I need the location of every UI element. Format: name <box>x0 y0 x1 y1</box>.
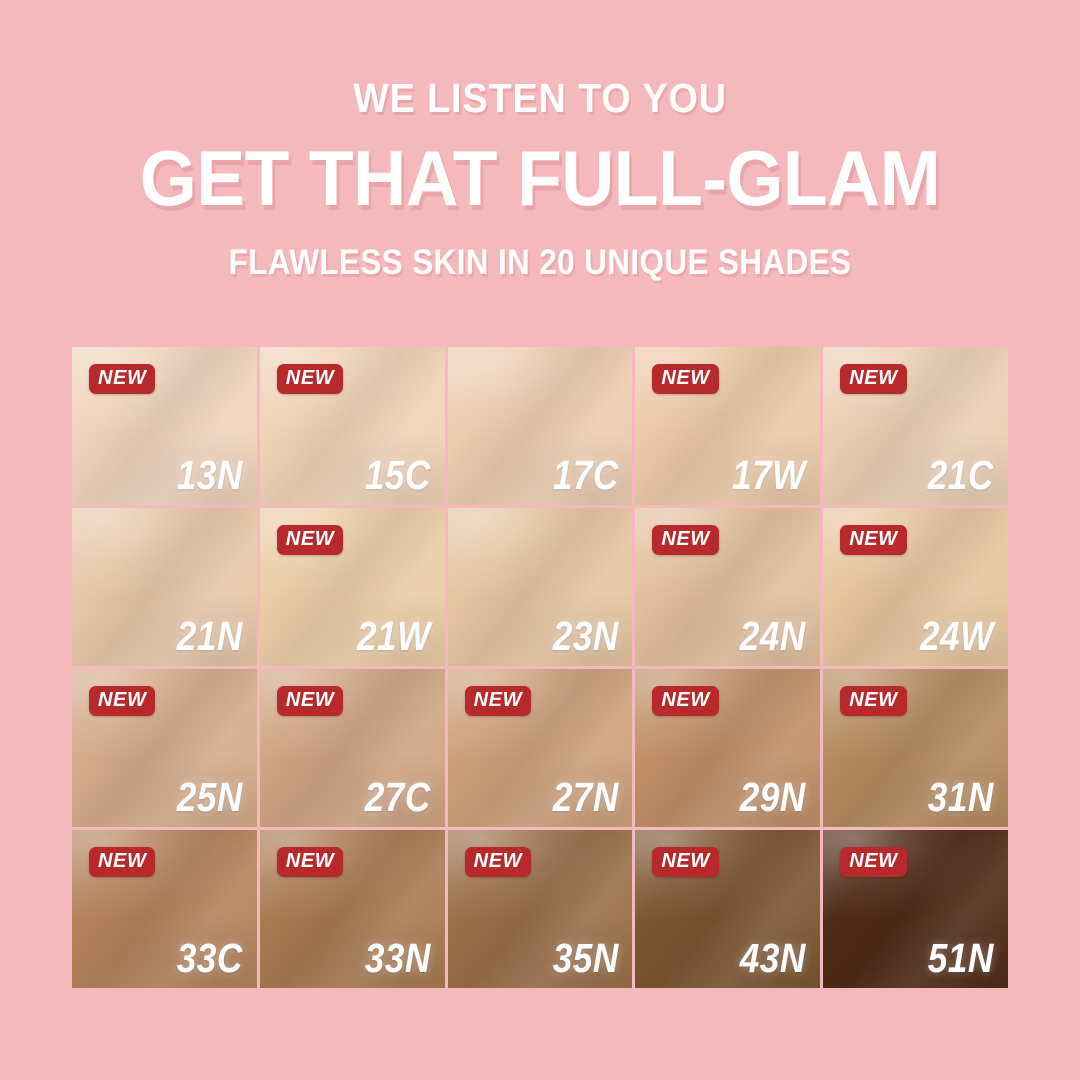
shade-swatch[interactable]: NEW21C <box>823 347 1008 505</box>
new-badge: NEW <box>652 686 718 716</box>
shade-code-label: 25N <box>177 777 243 818</box>
shade-swatch[interactable]: NEW25N <box>72 669 257 827</box>
shade-code-label: 43N <box>740 938 806 979</box>
shade-swatch[interactable]: NEW17W <box>635 347 820 505</box>
shade-swatch[interactable]: NEW27C <box>260 669 445 827</box>
new-badge: NEW <box>277 364 343 394</box>
shade-code-label: 27C <box>365 777 431 818</box>
shade-swatch[interactable]: NEW43N <box>635 830 820 988</box>
new-badge: NEW <box>277 525 343 555</box>
shade-swatch[interactable]: NEW35N <box>448 830 633 988</box>
shade-code-label: 17W <box>732 455 806 496</box>
shade-swatch[interactable]: NEW24N <box>635 508 820 666</box>
new-badge: NEW <box>840 525 906 555</box>
shade-swatch[interactable]: NEW51N <box>823 830 1008 988</box>
shade-code-label: 17C <box>552 455 618 496</box>
new-badge: NEW <box>840 686 906 716</box>
new-badge: NEW <box>465 686 531 716</box>
shade-code-label: 29N <box>740 777 806 818</box>
shade-swatch[interactable]: NEW23N <box>448 508 633 666</box>
page-title: GET THAT FULL-GLAM <box>32 139 1047 217</box>
shade-code-label: 51N <box>928 938 994 979</box>
shade-code-label: 13N <box>177 455 243 496</box>
subtitle-text: FLAWLESS SKIN IN 20 UNIQUE SHADES <box>54 245 1026 280</box>
shade-code-label: 24N <box>740 616 806 657</box>
new-badge: NEW <box>840 364 906 394</box>
shade-code-label: 24W <box>920 616 994 657</box>
shade-swatch[interactable]: NEW21W <box>260 508 445 666</box>
header-block: WE LISTEN TO YOU GET THAT FULL-GLAM FLAW… <box>0 78 1080 280</box>
shade-code-label: 21C <box>928 455 994 496</box>
shade-swatch[interactable]: NEW15C <box>260 347 445 505</box>
shade-swatch[interactable]: NEW33C <box>72 830 257 988</box>
new-badge: NEW <box>89 686 155 716</box>
shade-code-label: 21W <box>357 616 431 657</box>
shade-swatch[interactable]: NEW31N <box>823 669 1008 827</box>
shade-swatch-grid: NEW13NNEW15CNEW17CNEW17WNEW21CNEW21NNEW2… <box>72 347 1008 988</box>
shade-code-label: 31N <box>928 777 994 818</box>
new-badge: NEW <box>840 847 906 877</box>
shade-swatch[interactable]: NEW21N <box>72 508 257 666</box>
promo-page: WE LISTEN TO YOU GET THAT FULL-GLAM FLAW… <box>0 0 1080 1080</box>
new-badge: NEW <box>89 847 155 877</box>
shade-code-label: 23N <box>552 616 618 657</box>
new-badge: NEW <box>652 847 718 877</box>
shade-code-label: 21N <box>177 616 243 657</box>
shade-swatch[interactable]: NEW13N <box>72 347 257 505</box>
shade-swatch[interactable]: NEW17C <box>448 347 633 505</box>
shade-swatch[interactable]: NEW29N <box>635 669 820 827</box>
shade-code-label: 27N <box>552 777 618 818</box>
shade-code-label: 15C <box>365 455 431 496</box>
shade-code-label: 33C <box>177 938 243 979</box>
shade-swatch[interactable]: NEW27N <box>448 669 633 827</box>
eyebrow-text: WE LISTEN TO YOU <box>43 78 1037 119</box>
shade-swatch[interactable]: NEW24W <box>823 508 1008 666</box>
new-badge: NEW <box>465 847 531 877</box>
shade-swatch[interactable]: NEW33N <box>260 830 445 988</box>
new-badge: NEW <box>652 364 718 394</box>
new-badge: NEW <box>277 847 343 877</box>
new-badge: NEW <box>652 525 718 555</box>
new-badge: NEW <box>89 364 155 394</box>
shade-code-label: 35N <box>552 938 618 979</box>
shade-code-label: 33N <box>365 938 431 979</box>
new-badge: NEW <box>277 686 343 716</box>
